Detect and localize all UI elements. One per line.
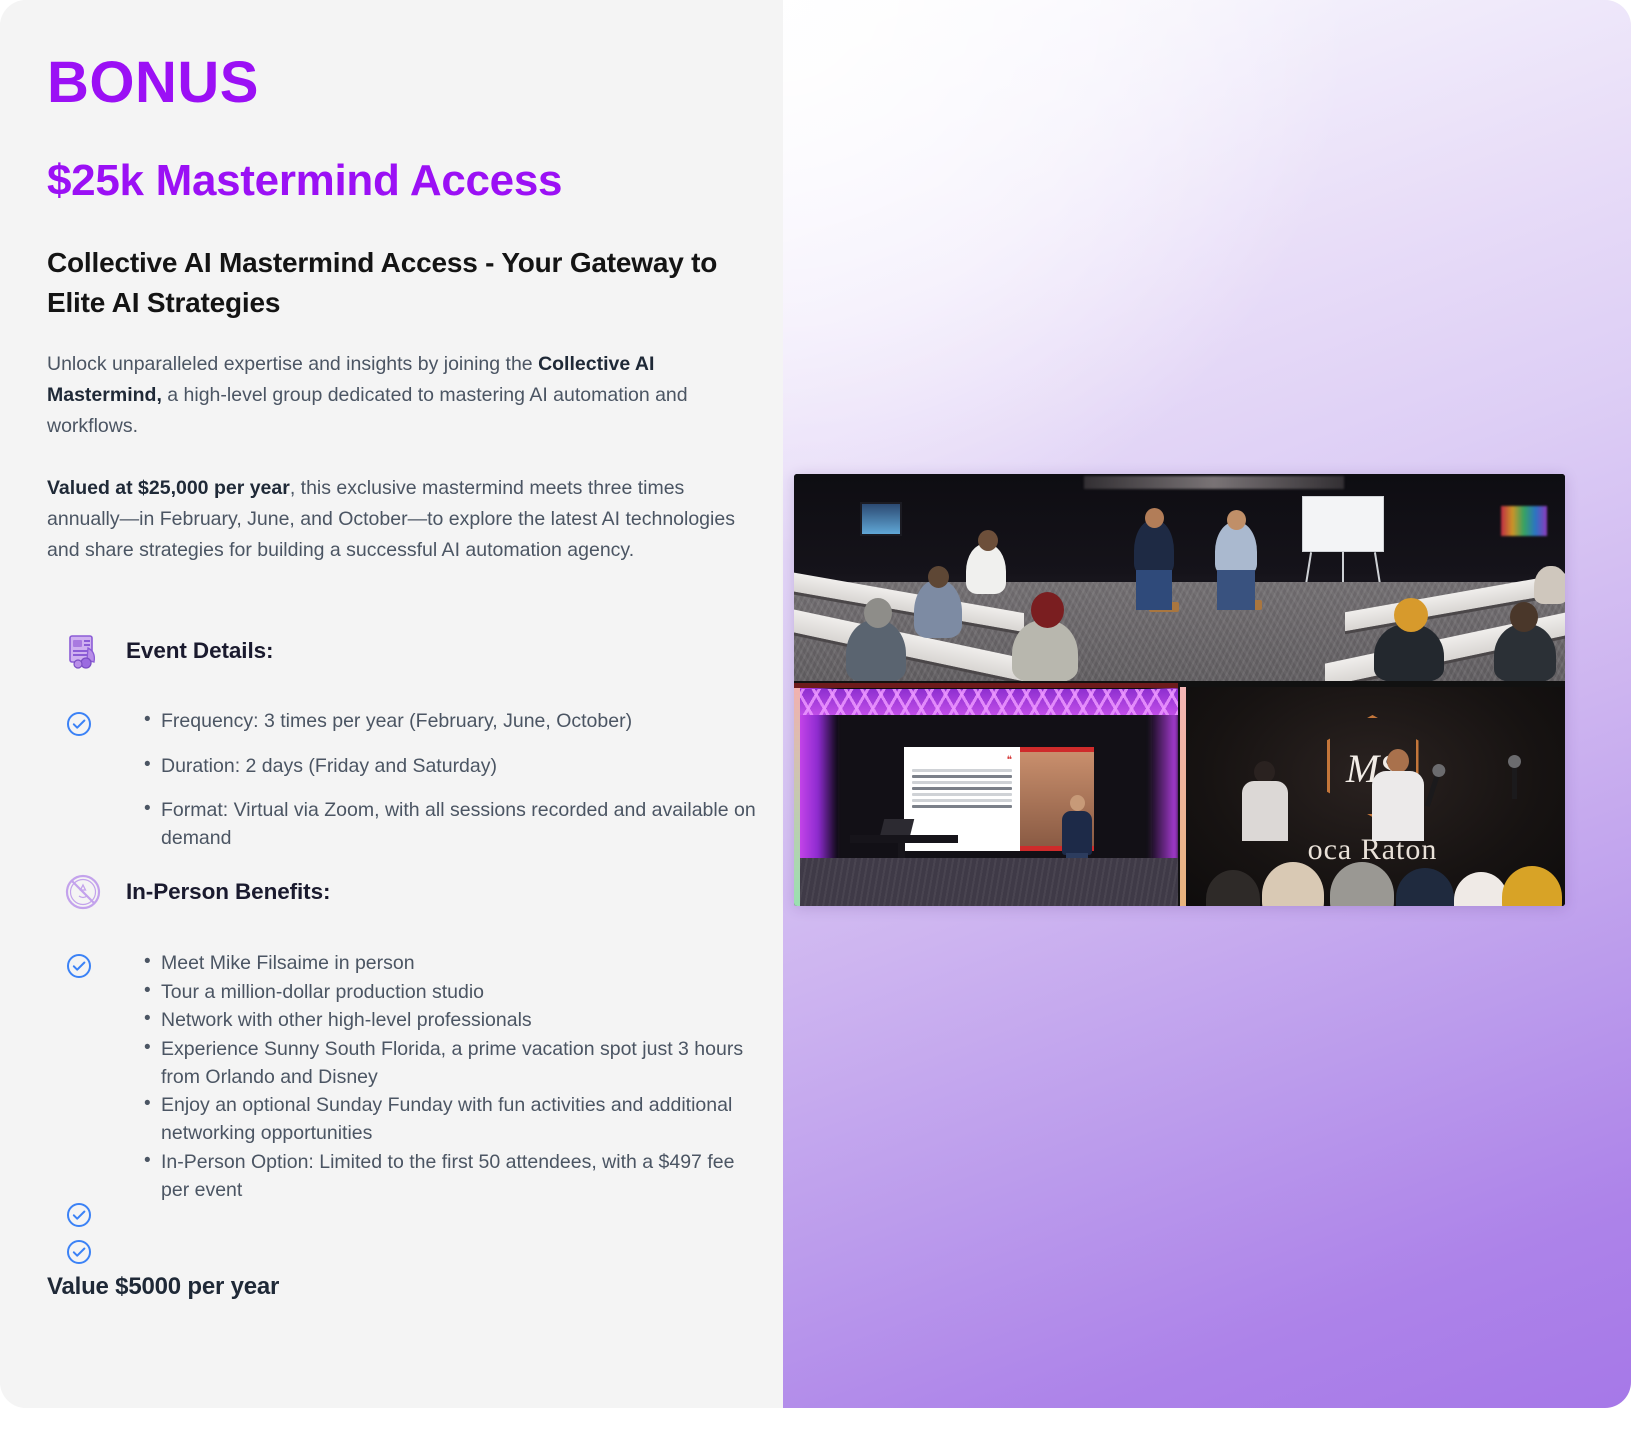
check-circle-icon bbox=[66, 1202, 92, 1228]
microphone-icon bbox=[1512, 765, 1517, 799]
check-circle-icon bbox=[66, 711, 92, 737]
check-circle-icon bbox=[66, 1239, 92, 1265]
no-entry-slash-icon bbox=[62, 871, 104, 913]
list-item: Network with other high-level profession… bbox=[144, 1007, 764, 1035]
page-title: $25k Mastermind Access bbox=[47, 158, 562, 204]
list-item: Format: Virtual via Zoom, with all sessi… bbox=[144, 797, 764, 852]
bullet-block-in-person-benefits: Meet Mike Filsaime in person Tour a mill… bbox=[66, 950, 764, 1205]
stage-presentation-photo: ❝ bbox=[794, 683, 1178, 906]
check-circle-icon bbox=[66, 953, 92, 979]
list-item: Duration: 2 days (Friday and Saturday) bbox=[144, 753, 764, 781]
audience-qa-photo: MS oca Raton bbox=[1180, 687, 1565, 906]
list-item: Experience Sunny South Florida, a prime … bbox=[144, 1036, 764, 1091]
seated-panelist bbox=[1242, 761, 1288, 839]
intro-p2-bold: Valued at $25,000 per year bbox=[47, 477, 290, 499]
bonus-label: BONUS bbox=[47, 54, 259, 112]
list-item: Tour a million-dollar production studio bbox=[144, 979, 764, 1007]
mastermind-room-photo bbox=[794, 474, 1565, 681]
photo-collage: ❝ bbox=[794, 474, 1565, 906]
value-statement: Value $5000 per year bbox=[47, 1273, 279, 1301]
bullet-block-event-details: Frequency: 3 times per year (February, J… bbox=[66, 708, 764, 870]
in-person-benefits-list: Meet Mike Filsaime in person Tour a mill… bbox=[144, 950, 764, 1205]
section-header-event-details: Event Details: bbox=[62, 630, 273, 672]
event-details-list: Frequency: 3 times per year (February, J… bbox=[144, 708, 764, 870]
section-header-in-person-benefits: In-Person Benefits: bbox=[62, 871, 330, 913]
intro-p1-lead: Unlock unparalleled expertise and insigh… bbox=[47, 353, 538, 375]
page-subtitle: Collective AI Mastermind Access - Your G… bbox=[47, 243, 737, 323]
bonus-offer-card: BONUS $25k Mastermind Access Collective … bbox=[0, 0, 1631, 1435]
list-item: Meet Mike Filsaime in person bbox=[144, 950, 764, 978]
intro-paragraph-1: Unlock unparalleled expertise and insigh… bbox=[47, 349, 737, 443]
list-item: Enjoy an optional Sunday Funday with fun… bbox=[144, 1092, 764, 1147]
intro-paragraph-2: Valued at $25,000 per year, this exclusi… bbox=[47, 473, 737, 567]
list-item: In-Person Option: Limited to the first 5… bbox=[144, 1149, 764, 1204]
card-surface: BONUS $25k Mastermind Access Collective … bbox=[0, 0, 1631, 1408]
audience-speaker bbox=[1370, 749, 1426, 839]
list-item: Frequency: 3 times per year (February, J… bbox=[144, 708, 764, 736]
section-title-event-details: Event Details: bbox=[126, 638, 273, 664]
section-title-in-person-benefits: In-Person Benefits: bbox=[126, 879, 330, 905]
document-chart-icon bbox=[62, 630, 104, 672]
